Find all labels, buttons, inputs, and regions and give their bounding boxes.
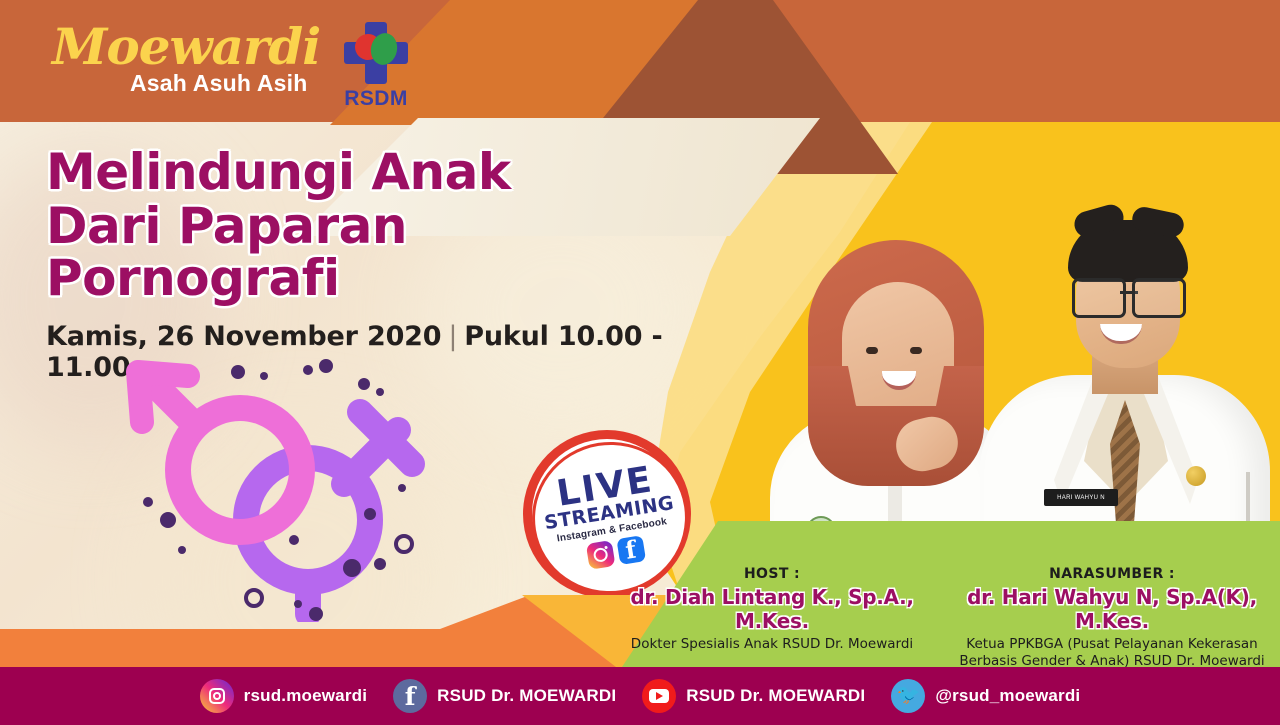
datetime-separator: | xyxy=(448,321,457,352)
social-handle: rsud.moewardi xyxy=(244,686,368,706)
speaker-name: dr. Diah Lintang K., Sp.A., M.Kes. xyxy=(612,585,932,633)
badge-platform-icons: f xyxy=(585,535,645,570)
social-handle: RSUD Dr. MOEWARDI xyxy=(686,686,865,706)
instagram-icon xyxy=(585,540,615,570)
speaker-name: dr. Hari Wahyu N, Sp.A(K), M.Kes. xyxy=(952,585,1272,633)
speaker-narasumber: NARASUMBER : dr. Hari Wahyu N, Sp.A(K), … xyxy=(952,567,1272,669)
speaker-role: NARASUMBER : xyxy=(952,567,1272,582)
social-handle: @rsud_moewardi xyxy=(935,686,1080,706)
speaker-description: Dokter Spesialis Anak RSUD Dr. Moewardi xyxy=(612,636,932,652)
eye xyxy=(866,347,878,354)
rsdm-logo: RSDM xyxy=(330,22,422,118)
eye xyxy=(910,347,922,354)
speakers-block: HOST : dr. Diah Lintang K., Sp.A., M.Kes… xyxy=(612,567,1272,663)
hair xyxy=(1068,220,1188,282)
social-youtube[interactable]: RSUD Dr. MOEWARDI xyxy=(642,679,865,713)
youtube-icon[interactable] xyxy=(642,679,676,713)
event-date: Kamis, 26 November 2020 xyxy=(46,321,441,352)
name-tag: HARI WAHYU N xyxy=(1044,489,1118,506)
lapel-pin xyxy=(1186,466,1206,486)
speaker-role: HOST : xyxy=(612,567,932,582)
social-twitter[interactable]: 🐦 @rsud_moewardi xyxy=(891,679,1080,713)
male-female-gender-symbols-icon xyxy=(112,352,442,622)
instagram-icon[interactable] xyxy=(200,679,234,713)
doctors-photo: HARI WAHYU N xyxy=(680,120,1280,590)
speaker-host: HOST : dr. Diah Lintang K., Sp.A., M.Kes… xyxy=(612,567,932,653)
hospital-cross-heart-leaf-icon xyxy=(341,22,411,84)
social-footer: rsud.moewardi f RSUD Dr. MOEWARDI RSUD D… xyxy=(0,667,1280,725)
facebook-icon: f xyxy=(616,535,646,565)
speaker-description: Ketua PPKBGA (Pusat Pelayanan Kekerasan … xyxy=(952,636,1272,668)
lens xyxy=(1132,278,1186,318)
twitter-icon[interactable]: 🐦 xyxy=(891,679,925,713)
twitter-bird-glyph: 🐦 xyxy=(891,679,925,713)
rsdm-label: RSDM xyxy=(330,87,422,111)
headline-block: Melindungi Anak Dari Paparan Pornografi … xyxy=(46,146,686,383)
social-instagram[interactable]: rsud.moewardi xyxy=(200,679,368,713)
event-poster: HARI WAHYU N Moewardi Asah Asuh Asih RSD… xyxy=(0,0,1280,725)
title-line-2: Dari Paparan Pornografi xyxy=(46,200,686,304)
title-line-1: Melindungi Anak xyxy=(46,146,686,198)
eyeglasses-icon xyxy=(1072,278,1186,312)
facebook-icon[interactable]: f xyxy=(393,679,427,713)
social-handle: RSUD Dr. MOEWARDI xyxy=(437,686,616,706)
lens xyxy=(1072,278,1126,318)
social-facebook[interactable]: f RSUD Dr. MOEWARDI xyxy=(393,679,616,713)
